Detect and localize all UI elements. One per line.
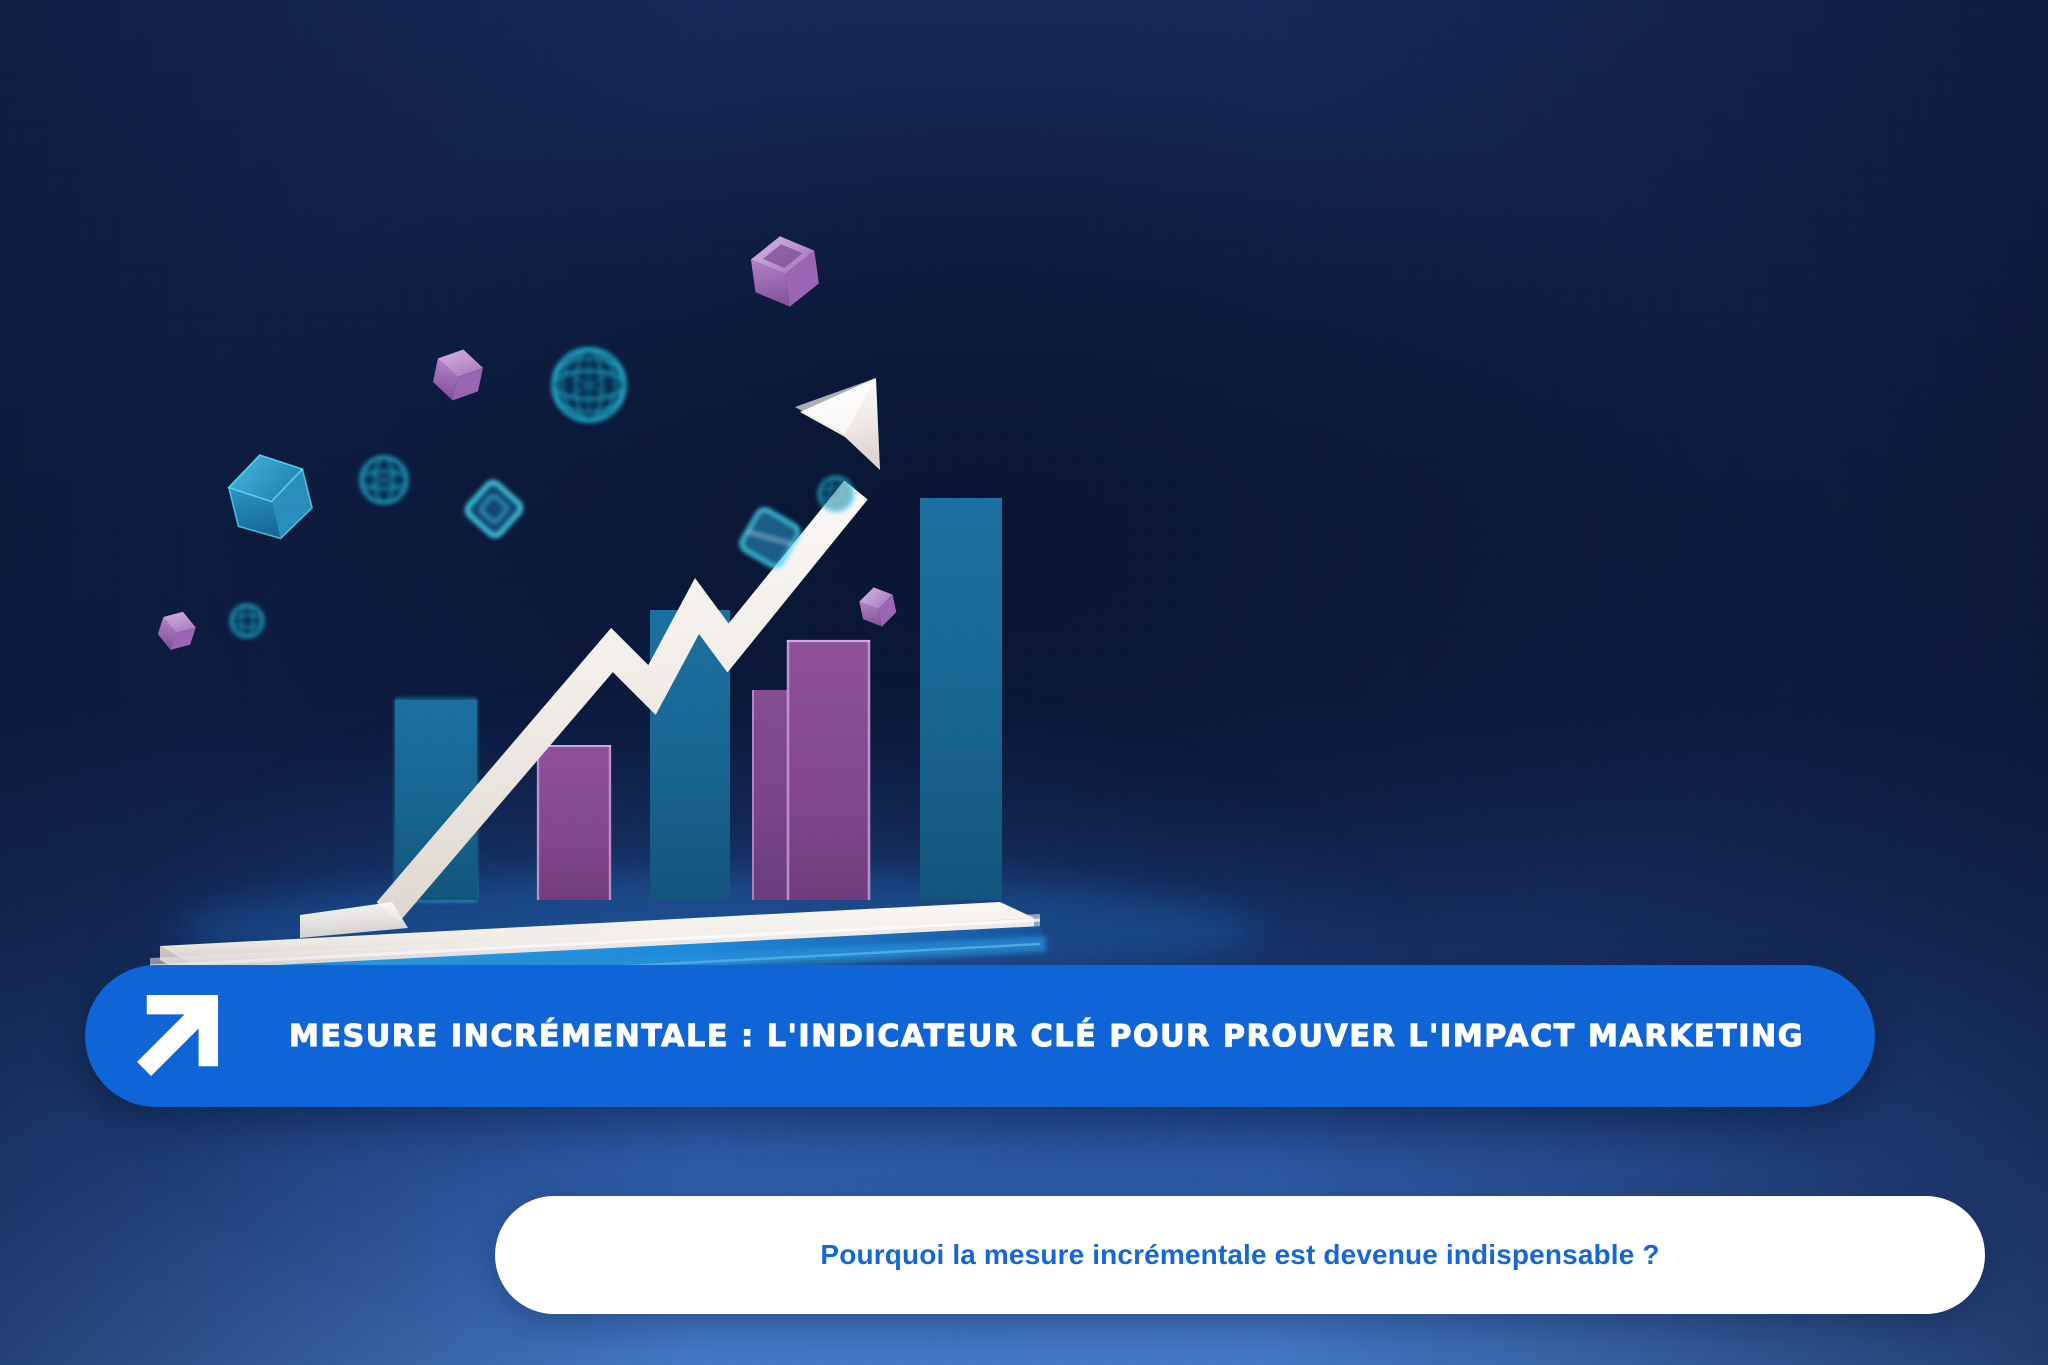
background-grain [0,0,2048,1365]
poster-canvas: MESURE INCRÉMENTALE : L'INDICATEUR CLÉ P… [0,0,2048,1365]
